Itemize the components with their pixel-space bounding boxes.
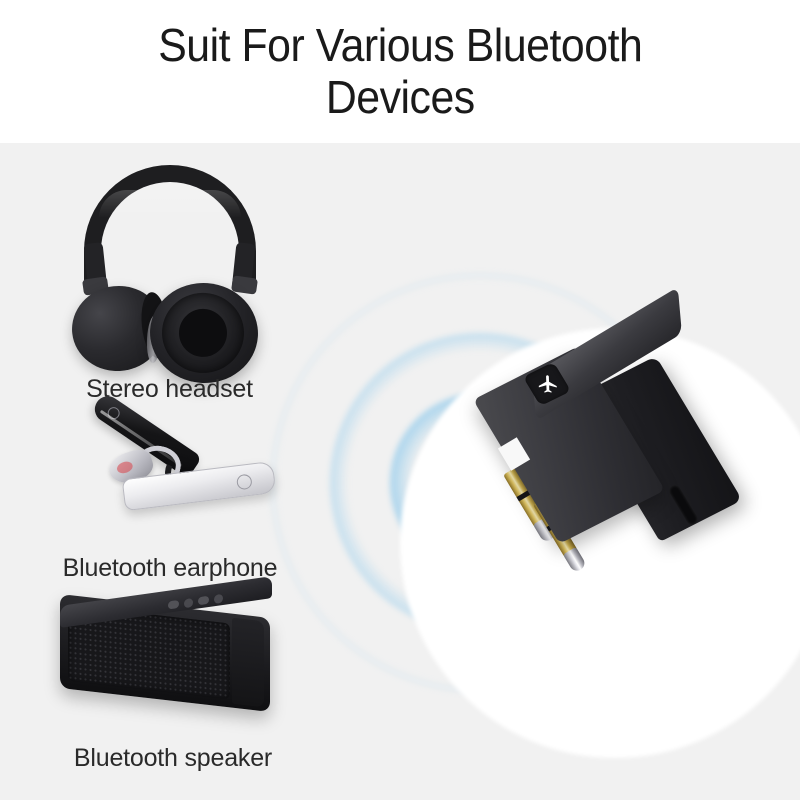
earpiece-black-button	[105, 405, 122, 422]
speaker-button-1	[168, 600, 179, 610]
earpiece-white-button	[236, 474, 253, 491]
page-title: Suit For Various Bluetooth Devices	[130, 20, 670, 123]
device-stereo-headset: Stereo headset	[62, 165, 277, 365]
product-marketing-image: Suit For Various Bluetooth Devices Stere…	[0, 0, 800, 800]
plug-tip	[563, 547, 587, 574]
airplane-bluetooth-adapter-icon	[470, 323, 750, 613]
speaker-side-panel	[232, 618, 264, 708]
device-bluetooth-earphone: Bluetooth earphone	[45, 408, 295, 558]
device-label-stereo-headset: Stereo headset	[62, 375, 277, 404]
headphones-earcup-right	[147, 279, 262, 386]
device-label-bluetooth-speaker: Bluetooth speaker	[48, 744, 298, 773]
headphones-headband	[84, 165, 256, 295]
header-banner: Suit For Various Bluetooth Devices	[0, 0, 800, 143]
speaker-button-4	[214, 593, 223, 603]
headphones-earpad	[159, 290, 246, 376]
content-panel: Stereo headset Bluetooth earphone	[0, 143, 800, 800]
device-bluetooth-speaker: Bluetooth speaker	[48, 588, 298, 748]
speaker-button-3	[198, 596, 209, 606]
speaker-button-2	[184, 597, 193, 607]
